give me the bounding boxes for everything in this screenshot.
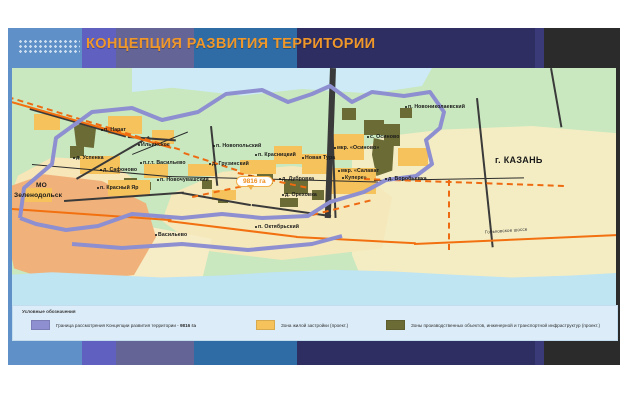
map-label: мкр. «Осиново» [337, 145, 379, 151]
map-canvas[interactable]: 9816 га МОг. Зеленодольскг. КАЗАНЬп. Нар… [12, 68, 616, 305]
map-label: п. Красницкий [258, 152, 296, 158]
map-settlement-dot-icon [367, 136, 369, 138]
map-settlement-dot-icon [279, 178, 281, 180]
map-label: г. Зеленодольск [12, 192, 62, 199]
legend-color-swatch [386, 320, 405, 330]
map-label: Ильинское [141, 142, 170, 148]
map-settlement-dot-icon [334, 147, 336, 149]
legend-item-value: 9816 га [180, 323, 196, 328]
map-settlement-dot-icon [100, 169, 102, 171]
map-settlement-dot-icon [73, 157, 75, 159]
map-settlement-dot-icon [338, 170, 340, 172]
map-settlement-dot-icon [140, 162, 142, 164]
map-label: МО [36, 182, 47, 189]
map-settlement-dot-icon [255, 226, 257, 228]
map-settlement-dot-icon [282, 194, 284, 196]
legend-item-label: Зоны производственных объектов, инженерн… [411, 323, 600, 328]
map-settlement-dot-icon [385, 178, 387, 180]
map-settlement-dot-icon [138, 144, 140, 146]
map-label: Купере» [345, 175, 367, 181]
map-label: Васильево [158, 232, 187, 238]
map-label: п.г.т. Васильево [143, 160, 186, 166]
map-label: г. КАЗАНЬ [495, 155, 543, 165]
map-label: Новая Тура [305, 155, 335, 161]
legend-panel: Условные обозначения Граница рассмотрени… [12, 305, 618, 341]
map-settlement-dot-icon [155, 234, 157, 236]
map-settlement-dot-icon [101, 129, 103, 131]
map-settlement-dot-icon [342, 177, 344, 179]
map-label: д. Сафоново [103, 167, 137, 173]
map-settlement-dot-icon [97, 187, 99, 189]
map-label: с. Осиново [370, 134, 399, 140]
map-settlement-dot-icon [209, 163, 211, 165]
legend-item-label: Граница рассмотрения Концепции развития … [56, 323, 196, 328]
legend-item: Граница рассмотрения Концепции развития … [31, 320, 196, 330]
map-label: п. Новониколаевский [408, 104, 465, 110]
map-settlement-dot-icon [213, 145, 215, 147]
map-label: д. Воробьевка [388, 176, 427, 182]
map-label: п. Новочувашский [160, 177, 209, 183]
legend-item: Зоны производственных объектов, инженерн… [386, 320, 600, 330]
legend-color-swatch [256, 320, 275, 330]
map-label: мкр. «Салават [341, 168, 379, 174]
map-label: п. Нарат [104, 127, 126, 133]
area-callout: 9816 га [236, 176, 273, 187]
page-title: КОНЦЕПЦИЯ РАЗВИТИЯ ТЕРРИТОРИИ [86, 36, 376, 52]
map-label: д. Успенка [76, 155, 104, 161]
map-label: д. Дубровка [282, 176, 314, 182]
legend-color-swatch [31, 320, 50, 330]
map-panel[interactable]: 9816 га МОг. Зеленодольскг. КАЗАНЬп. Нар… [12, 68, 616, 305]
legend-item: Зона жилой застройки (проект.) [256, 320, 348, 330]
map-label: п. Красный Яр [100, 185, 139, 191]
slide-header: КОНЦЕПЦИЯ РАЗВИТИЯ ТЕРРИТОРИИ [8, 28, 620, 66]
map-label: д. Грузинский [212, 161, 249, 167]
map-settlement-dot-icon [255, 154, 257, 156]
legend-item-label: Зона жилой застройки (проект.) [281, 323, 348, 328]
map-settlement-dot-icon [157, 179, 159, 181]
map-label: п. Новопольский [216, 143, 261, 149]
map-label: д. Ореховка [285, 192, 317, 198]
dots-decoration-icon [18, 39, 80, 55]
legend-title: Условные обозначения [22, 309, 76, 314]
map-label: п. Октябрьский [258, 224, 299, 230]
map-settlement-dot-icon [405, 106, 407, 108]
presentation-slide: КОНЦЕПЦИЯ РАЗВИТИЯ ТЕРРИТОРИИ [0, 0, 620, 401]
map-settlement-dot-icon [302, 157, 304, 159]
